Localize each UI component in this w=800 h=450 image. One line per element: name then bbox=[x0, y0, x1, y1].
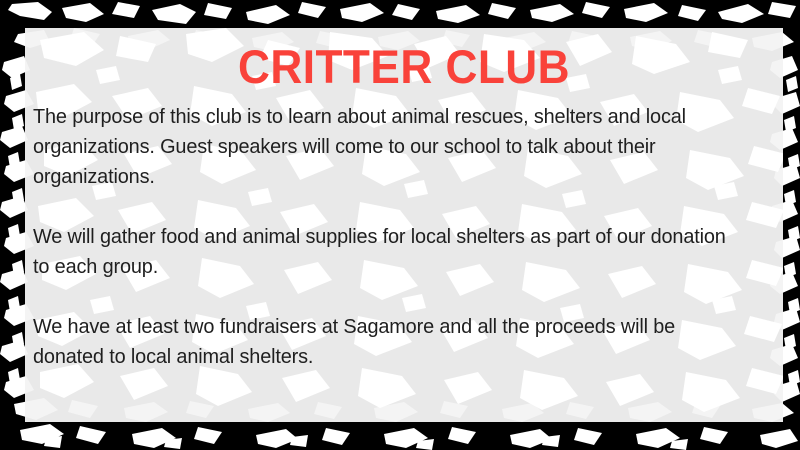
body-paragraph-2: We will gather food and animal supplies … bbox=[33, 222, 746, 282]
slide-title: CRITTER CLUB bbox=[48, 42, 761, 92]
slide-body: The purpose of this club is to learn abo… bbox=[33, 102, 757, 372]
content-panel: CRITTER CLUB The purpose of this club is… bbox=[25, 28, 783, 422]
body-paragraph-1: The purpose of this club is to learn abo… bbox=[33, 102, 746, 192]
panel-content: CRITTER CLUB The purpose of this club is… bbox=[25, 28, 783, 422]
body-paragraph-3: We have at least two fundraisers at Saga… bbox=[33, 312, 746, 372]
slide: CRITTER CLUB The purpose of this club is… bbox=[0, 0, 800, 450]
